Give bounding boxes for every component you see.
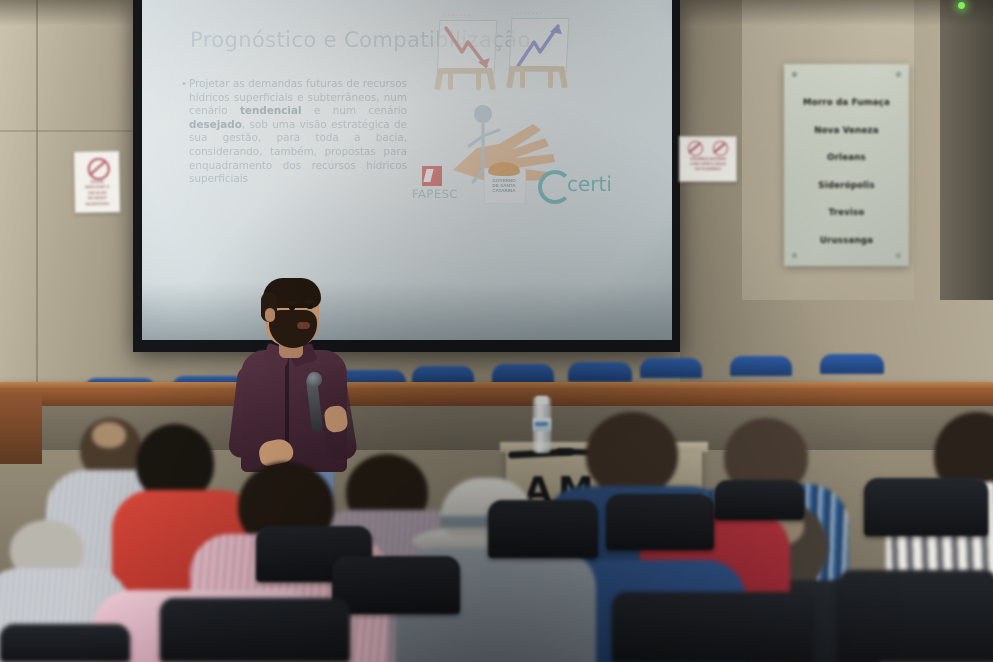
plaque-screw-icon xyxy=(896,72,901,77)
easel-leg xyxy=(476,72,481,90)
presenter-ear xyxy=(265,308,275,322)
fapesc-logo-icon xyxy=(422,166,442,186)
auditorium-chair xyxy=(160,598,350,662)
plaque-screw-icon xyxy=(896,253,901,258)
municipality-plaque: Morro da Fumaça Nova Veneza Orleans Side… xyxy=(784,64,909,266)
no-food-drink-sign-text: PROIBIDO ENTRAR COM CAFÉ E ÁGUA NO PLENÁ… xyxy=(682,157,734,172)
stage-rail-top xyxy=(0,382,993,388)
santa-catarina-logo-text: GOVERNO DE SANTA CATARINA xyxy=(486,178,522,194)
slide-text-part-2: e num cenário xyxy=(302,105,407,117)
blue-chair-back xyxy=(820,354,884,374)
slide-bold-tendencial: tendencial xyxy=(240,105,302,117)
fapesc-logo-text: FAPESC xyxy=(412,187,458,201)
plaque-item: Orleans xyxy=(784,145,909,173)
blue-chair-back xyxy=(492,364,554,384)
sign-line: SILENCIOSO xyxy=(77,200,117,206)
plaque-item: Siderópolis xyxy=(784,173,909,201)
plaque-item: Morro da Fumaça xyxy=(784,90,909,118)
auditorium-chair xyxy=(838,570,993,662)
plaque-screw-icon xyxy=(792,253,797,258)
santa-catarina-bird-icon xyxy=(488,162,520,176)
status-led-icon xyxy=(958,2,965,9)
plaque-item: Urussanga xyxy=(784,228,909,256)
water-bottle-cap xyxy=(536,396,548,405)
presenter-eye xyxy=(289,306,295,310)
no-cellphone-icon xyxy=(88,158,110,180)
easel-leg xyxy=(448,72,453,90)
presenter-hand-holding-mic xyxy=(323,405,348,434)
certi-logo-text: certi xyxy=(567,172,612,196)
blue-chair-back xyxy=(730,356,792,376)
sc-line-3: CATARINA xyxy=(486,188,522,193)
blue-chair-back xyxy=(640,358,702,378)
wall-right-dark-edge xyxy=(940,0,993,300)
declining-trend-easel: ······· xyxy=(430,12,504,92)
slide-body-text: • Projetar as demandas futuras de recurs… xyxy=(189,78,407,187)
auditorium-chair xyxy=(488,500,598,558)
no-food-drink-sign: PROIBIDO ENTRAR COM CAFÉ E ÁGUA NO PLENÁ… xyxy=(679,136,737,182)
no-cellphone-sign: FAVOR DESLIGAR O CELULAR NO MODO SILENCI… xyxy=(73,151,120,214)
presenter-eye xyxy=(307,305,313,309)
rising-trend-easel: ······· xyxy=(502,10,576,90)
blue-chair-back xyxy=(568,362,632,382)
presenter-mouth xyxy=(297,322,310,329)
auditorium-chair xyxy=(612,592,812,662)
rail-left-post xyxy=(0,394,42,464)
wall-seam-vertical xyxy=(36,0,38,430)
wall-left-panel xyxy=(0,0,135,430)
no-water-icon xyxy=(713,141,728,156)
easel-leg xyxy=(548,70,553,88)
auditorium-photo: Prognóstico e Compatibilização • Projeta… xyxy=(0,0,993,662)
auditorium-chair xyxy=(0,624,130,662)
slide-bold-desejado: desejado xyxy=(189,119,242,131)
no-coffee-icon xyxy=(688,141,703,156)
bullet-marker: • xyxy=(181,78,187,92)
presenter-eyebrow xyxy=(305,300,315,303)
sign-line: NO PLENÁRIO xyxy=(682,167,734,172)
sponsor-logos: FAPESC GOVERNO DE SANTA CATARINA certi xyxy=(412,166,612,206)
auditorium-chair xyxy=(714,480,804,520)
auditorium-chair xyxy=(864,478,988,536)
wall-seam-horizontal xyxy=(0,130,135,132)
audience-bald-spot xyxy=(92,422,126,448)
plaque-item: Treviso xyxy=(784,200,909,228)
plaque-list: Morro da Fumaça Nova Veneza Orleans Side… xyxy=(784,64,909,255)
plaque-screw-icon xyxy=(792,72,797,77)
auditorium-chair xyxy=(606,494,714,550)
presentation-slide: Prognóstico e Compatibilização • Projeta… xyxy=(142,0,672,284)
no-cellphone-sign-text: FAVOR DESLIGAR O CELULAR NO MODO SILENCI… xyxy=(77,179,117,207)
water-bottle-label xyxy=(533,418,551,431)
plaque-item: Nova Veneza xyxy=(784,118,909,146)
easel-leg xyxy=(520,70,525,88)
presenter-eyebrow xyxy=(287,301,297,304)
stage-rail xyxy=(0,382,993,408)
auditorium-chair xyxy=(332,556,460,614)
